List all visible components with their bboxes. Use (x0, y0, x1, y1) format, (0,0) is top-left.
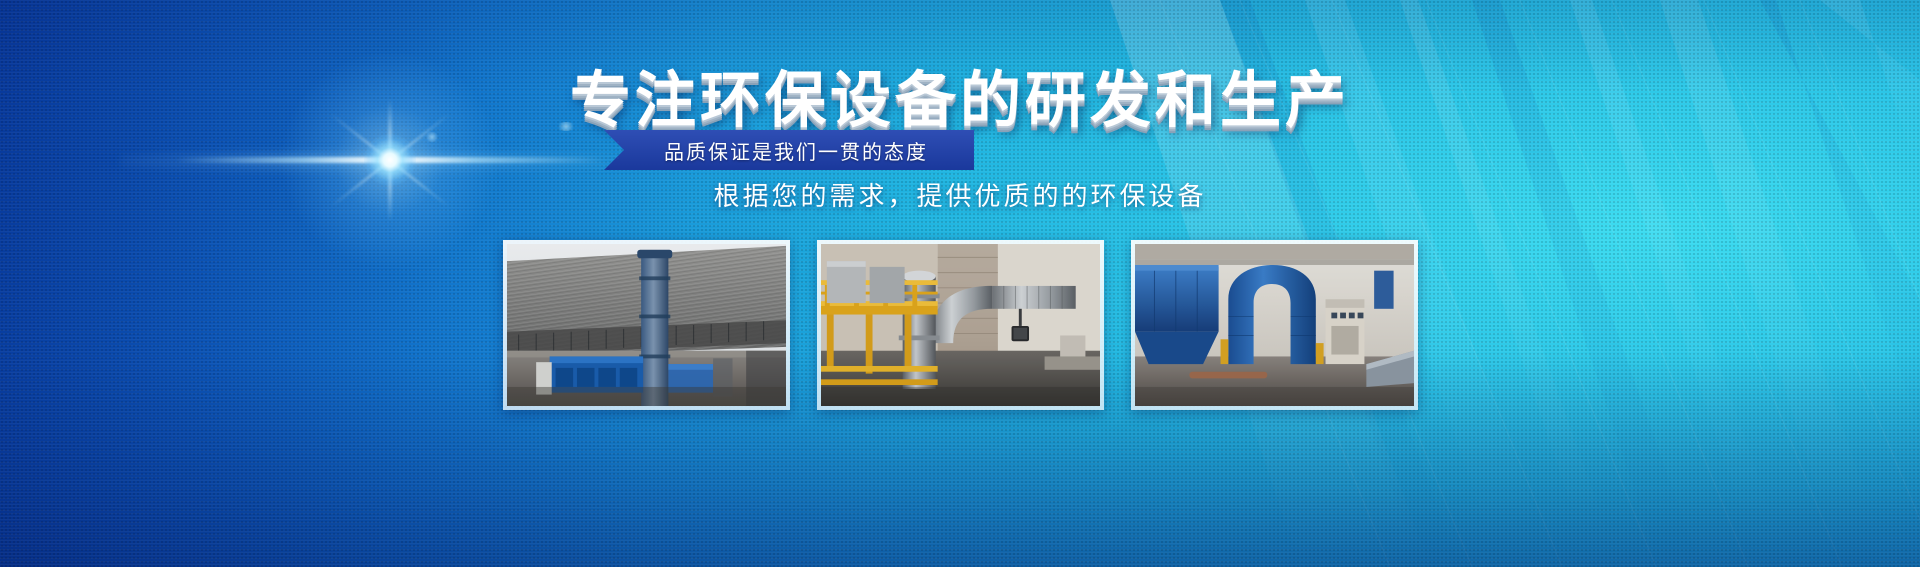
photo-workshop-equipment (821, 244, 1100, 406)
photo-frame[interactable] (503, 240, 790, 410)
ribbon-label: 品质保证是我们一贯的态度 (604, 130, 974, 170)
photo-factory-exterior (507, 244, 786, 406)
photo-frame[interactable] (817, 240, 1104, 410)
subtitle: 根据您的需求，提供优质的的环保设备 (0, 176, 1920, 213)
photo-dust-collector-system (1135, 244, 1414, 406)
photo-frame[interactable] (1131, 240, 1418, 410)
ribbon-banner: 品质保证是我们一贯的态度 (604, 130, 974, 170)
page-title: 专注环保设备的研发和生产 (0, 50, 1920, 139)
photo-gallery (0, 240, 1920, 410)
hero-banner: 专注环保设备的研发和生产 品质保证是我们一贯的态度 根据您的需求，提供优质的的环… (0, 0, 1920, 567)
